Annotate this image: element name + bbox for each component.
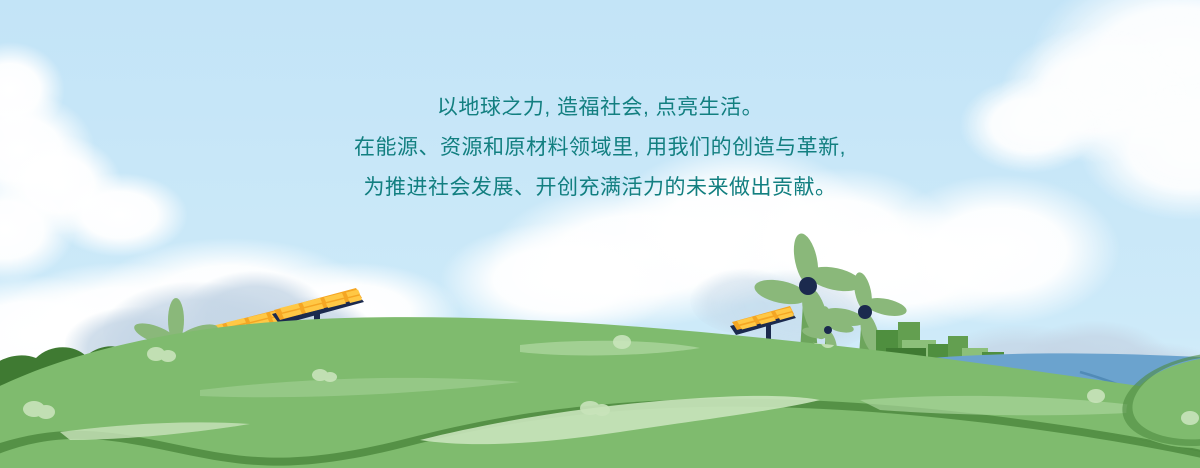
eco-banner: 以地球之力, 造福社会, 点亮生活。 在能源、资源和原材料领域里, 用我们的创造… (0, 0, 1200, 468)
illustration-scene (0, 0, 1200, 468)
